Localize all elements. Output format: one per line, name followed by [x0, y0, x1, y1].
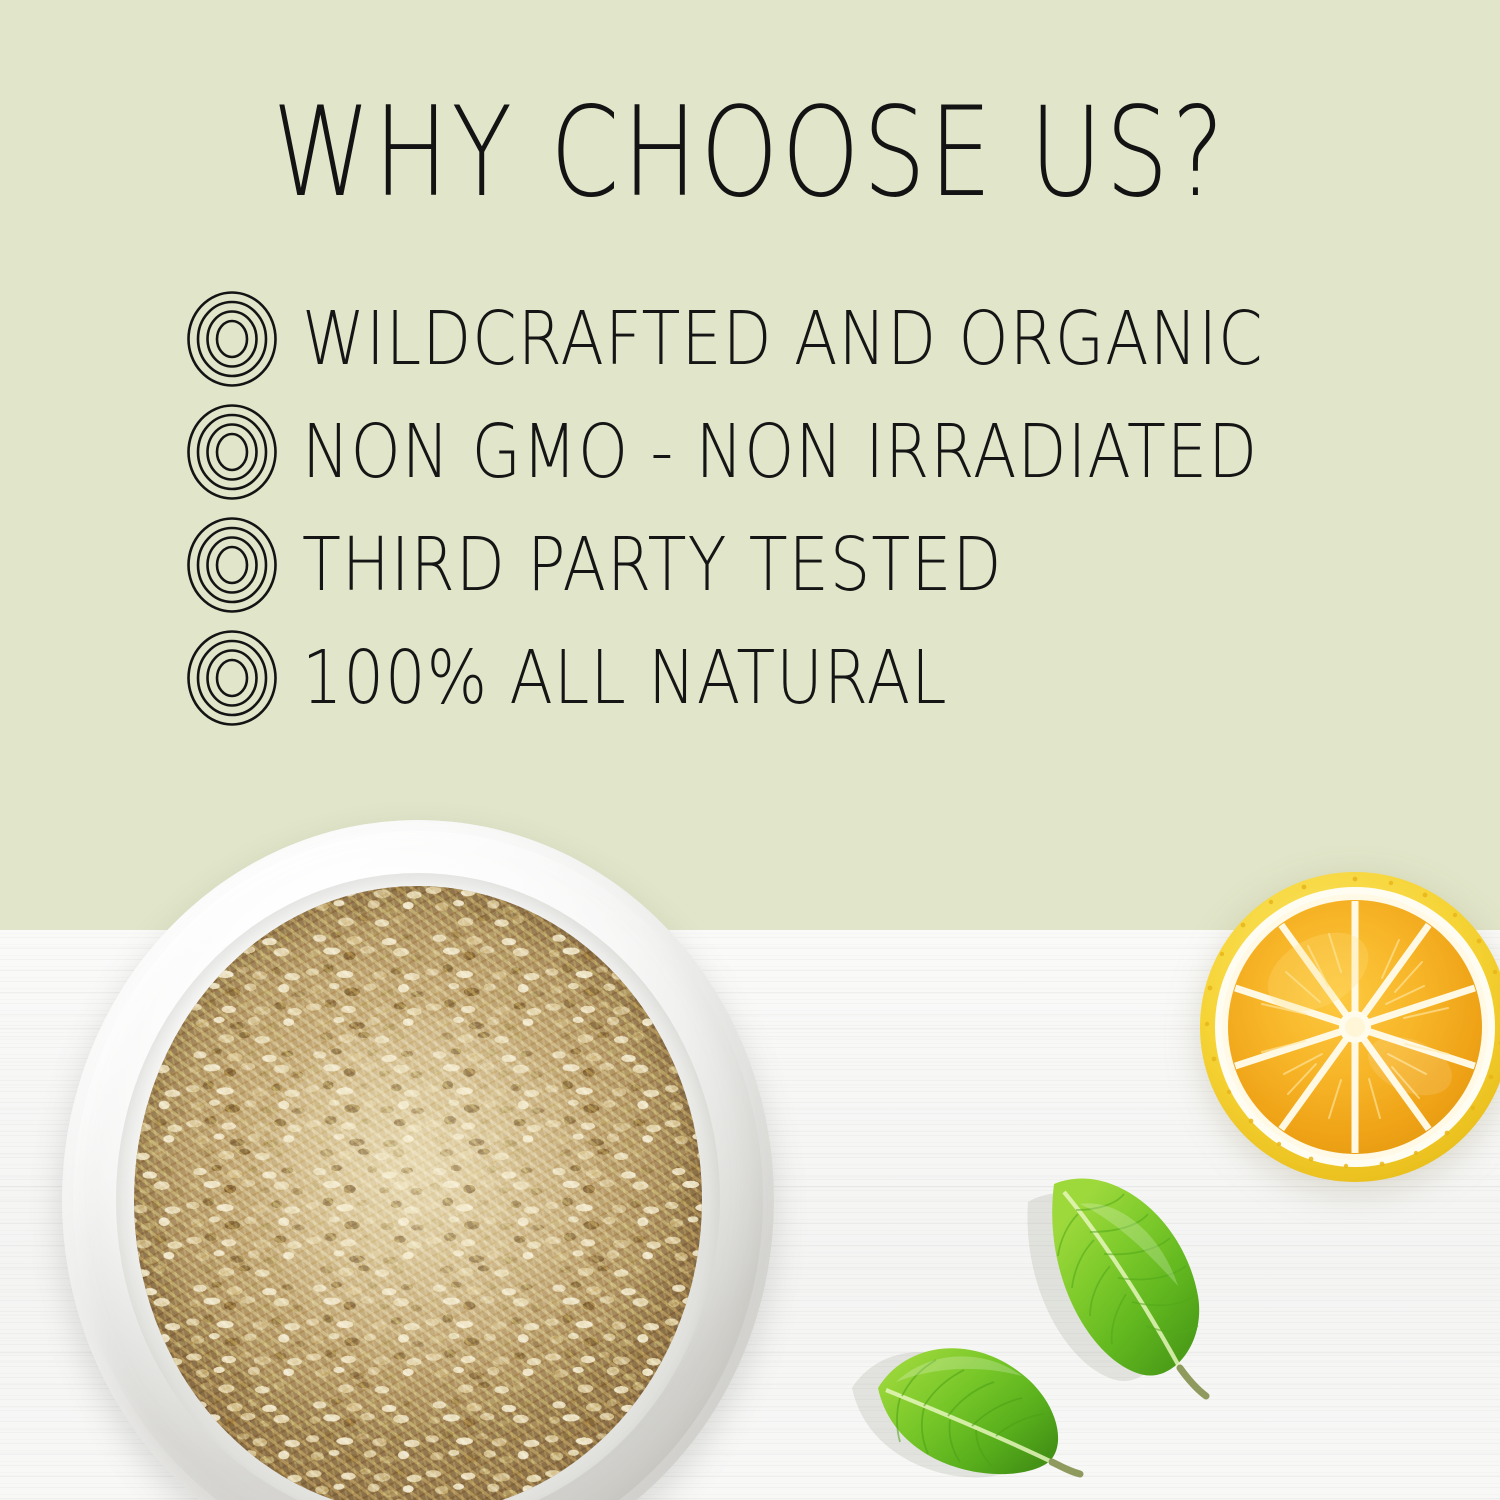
list-item-label: NON GMO - NON IRRADIATED — [302, 415, 1258, 489]
list-item: NON GMO - NON IRRADIATED — [186, 395, 1476, 508]
list-item: 100% ALL NATURAL — [186, 621, 1476, 734]
list-item-label: 100% ALL NATURAL — [302, 641, 948, 715]
dried-herb-root-chips — [134, 886, 702, 1500]
lemon-slice — [1196, 868, 1500, 1186]
list-item: WILDCRAFTED AND ORGANIC — [186, 282, 1476, 395]
list-item-label: THIRD PARTY TESTED — [302, 528, 1003, 602]
concentric-circles-bullet-icon — [186, 403, 278, 501]
list-item-label: WILDCRAFTED AND ORGANIC — [302, 302, 1264, 376]
white-ceramic-bowl — [62, 820, 774, 1500]
list-item: THIRD PARTY TESTED — [186, 508, 1476, 621]
concentric-circles-bullet-icon — [186, 290, 278, 388]
page-title: WHY CHOOSE US? — [150, 90, 1350, 216]
concentric-circles-bullet-icon — [186, 516, 278, 614]
citrus-leaf-lower — [856, 1316, 1086, 1500]
concentric-circles-bullet-icon — [186, 629, 278, 727]
benefits-list: WILDCRAFTED AND ORGANIC NON GMO - NON IR… — [186, 282, 1476, 734]
product-infographic: WHY CHOOSE US? WILDCRAFTED AND ORGANIC — [0, 0, 1500, 1500]
